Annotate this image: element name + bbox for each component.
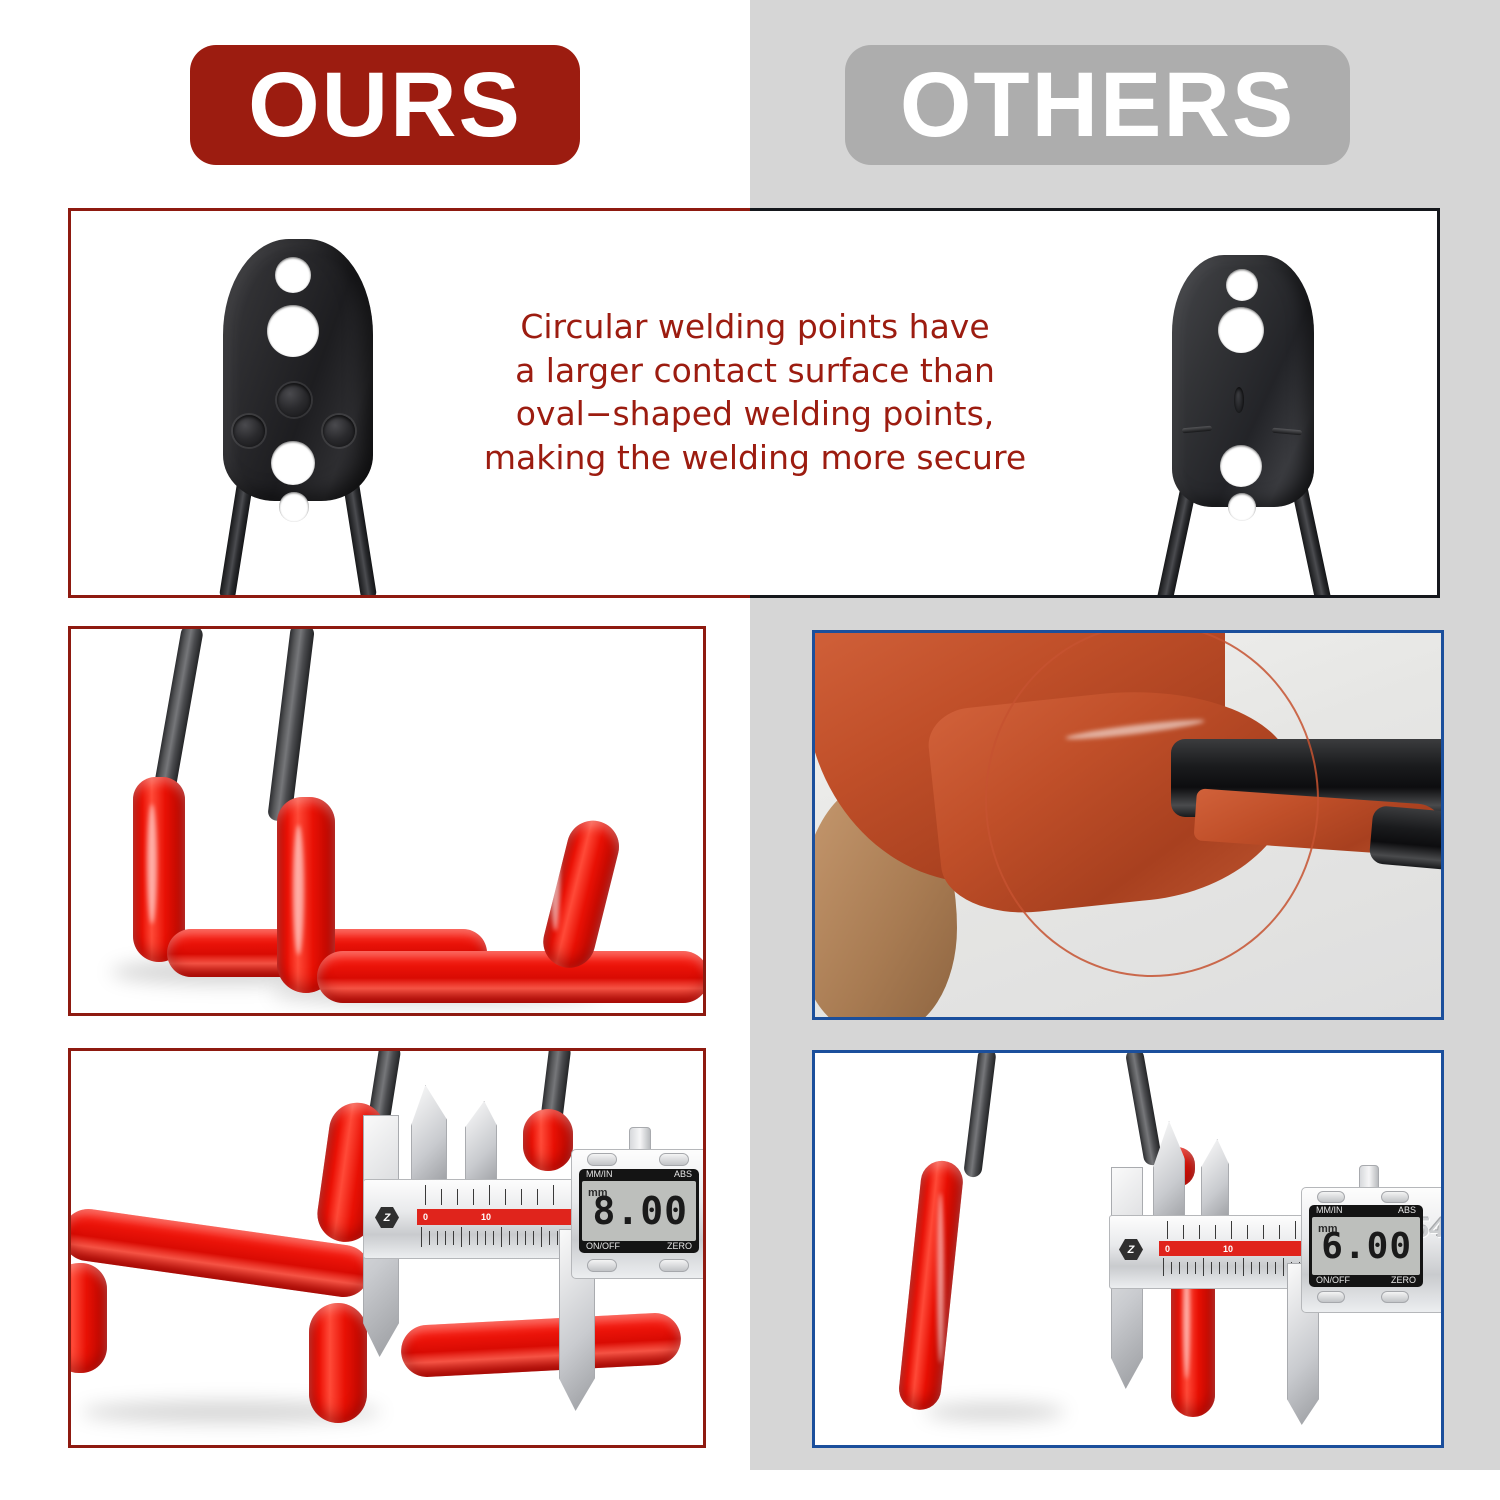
others-lcd-screen: mm 6.00 [1312,1217,1420,1275]
copy-line-4: making the welding more secure [470,436,1040,480]
gloss-highlight-1 [147,804,157,924]
others-caliper-upper-jaw-right [1201,1139,1229,1223]
ours-weld-point-right [323,415,355,447]
gloss-highlight-2 [293,825,304,955]
others-caliper-zero-button[interactable] [1381,1291,1409,1303]
ours-lcd-unit: mm [588,1187,608,1199]
others-lcd-abs-label: ABS [1398,1205,1416,1217]
others-scale-label-10: 10 [1223,1244,1233,1254]
others-hook-shadow [925,1403,1065,1421]
ours-scale-label-10: 10 [481,1212,491,1222]
ours-caliper-panel: Z 0 10 [68,1048,706,1448]
others-badge: OTHERS [845,45,1350,165]
ours-hook-front-stem [267,626,315,822]
others-digital-caliper: Z 0 10 [1101,1129,1444,1429]
others-lcd-onoff-label: ON/OFF [1316,1275,1350,1287]
ours-lcd-bottom-labels: ON/OFF ZERO [579,1241,699,1253]
others-peeling-coating-panel [812,630,1444,1020]
others-caliper-brand-letter: Z [1128,1244,1135,1256]
copy-line-2: a larger contact surface than [470,349,1040,393]
others-lcd-unit: mm [1318,1223,1338,1235]
ours-plate-hole-2 [267,305,319,357]
ours-lcd-abs-label: ABS [674,1169,692,1181]
ours-lcd-mmin-label: MM/IN [586,1169,613,1181]
ours-badge-label: OURS [248,59,522,151]
others-gloss-left [937,1193,944,1363]
others-caliper-onoff-button[interactable] [1317,1291,1345,1303]
ours-plate-body [223,239,373,501]
others-plate-hole-1 [1226,269,1258,301]
ours-caliper-onoff-button[interactable] [587,1259,617,1272]
others-caliper-upper-jaw-left [1153,1121,1185,1227]
copy-line-3: oval−shaped welding points, [470,392,1040,436]
ours-plate-hole-4 [279,492,309,522]
ours-weld-point-center [277,383,311,417]
ours-lcd-top-labels: MM/IN ABS [579,1169,699,1181]
others-caliper-abs-button[interactable] [1381,1191,1409,1203]
others-plate-hole-2 [1218,307,1264,353]
ours-caliper-zero-button[interactable] [659,1259,689,1272]
torn-coating-strand [985,630,1319,977]
ours-caliper-mmin-button[interactable] [587,1153,617,1166]
ours-digital-caliper: Z 0 10 [359,1089,706,1419]
ours-plate-assembly [201,231,401,531]
ours-thick-coating-panel [68,626,706,1016]
others-lcd-zero-label: ZERO [1391,1275,1416,1287]
exposed-steel-bar-tip [1369,805,1444,871]
ours-badge: OURS [190,45,580,165]
ours-weld-point-left [233,415,265,447]
others-scale-label-0: 0 [1165,1244,1170,1254]
others-badge-label: OTHERS [900,59,1295,151]
ours-plate-hole-3 [271,441,315,485]
welding-point-description: Circular welding points have a larger co… [470,305,1040,479]
others-plate-hole-3 [1220,445,1262,487]
others-plate-assembly [1148,233,1348,533]
ours-lcd-onoff-label: ON/OFF [586,1241,620,1253]
ours-caliper-display: MM/IN ABS mm 8.00 ON/OFF ZERO [579,1169,699,1253]
ours-measured-tip-left [68,1263,107,1373]
ours-scale-label-0: 0 [423,1212,428,1222]
others-measured-tip-left [897,1159,965,1412]
ours-caliper-abs-button[interactable] [659,1153,689,1166]
others-caliper-display: MM/IN ABS mm 6.00 ON/OFF ZERO [1309,1205,1423,1287]
others-lcd-bottom-labels: ON/OFF ZERO [1309,1275,1423,1287]
others-caliper-mmin-button[interactable] [1317,1191,1345,1203]
others-weld-point-slot-right [1272,428,1302,436]
ours-lcd-screen: mm 8.00 [582,1181,696,1241]
others-lcd-top-labels: MM/IN ABS [1309,1205,1423,1217]
comparison-infographic: OURS OTHERS [0,0,1500,1500]
others-weld-point-oval-center [1234,387,1244,413]
ours-caliper-upper-jaw-right [465,1101,497,1189]
ours-caliper-ticks-upper [419,1185,579,1207]
others-lcd-mmin-label: MM/IN [1316,1205,1343,1217]
ours-caliper-red-scale: 0 10 [417,1209,577,1225]
gloss-highlight-3 [551,835,560,931]
others-plate-hole-4 [1228,493,1256,521]
others-plate-body [1172,255,1314,507]
ours-hook-front-horizontal [317,951,706,1003]
ours-caliper-upper-jaw-left [411,1085,447,1187]
others-measured-stem-left [963,1050,997,1178]
ours-lcd-zero-label: ZERO [667,1241,692,1253]
copy-line-1: Circular welding points have [470,305,1040,349]
others-weld-point-slot-left [1182,426,1212,434]
others-caliper-ticks-upper [1161,1221,1321,1241]
others-caliper-red-scale: 0 10 [1159,1241,1319,1256]
others-caliper-panel: Z 0 10 [812,1050,1444,1448]
caliper-brand-letter: Z [384,1212,391,1224]
ours-plate-hole-1 [275,257,311,293]
